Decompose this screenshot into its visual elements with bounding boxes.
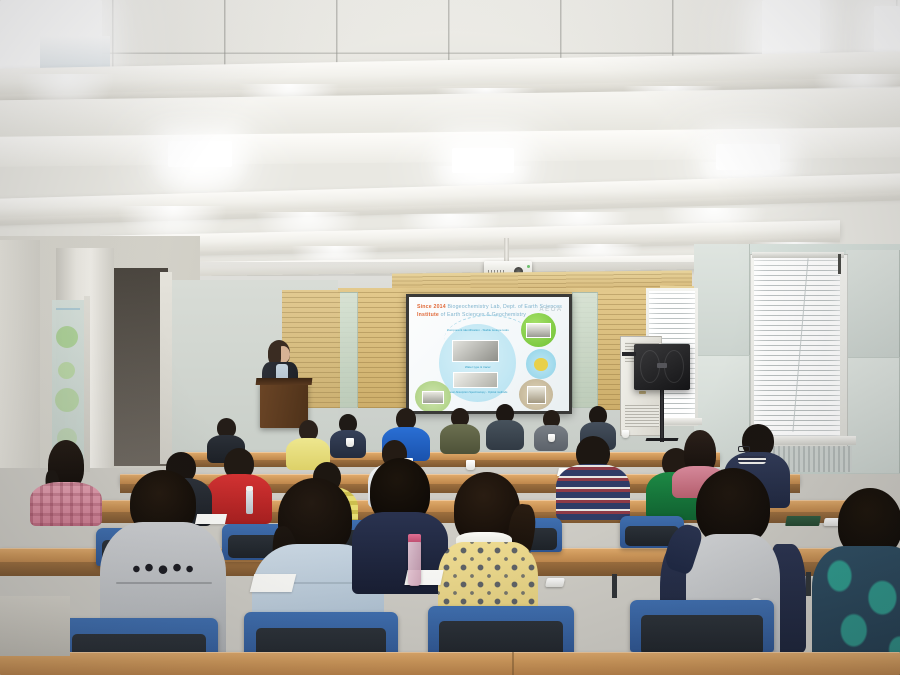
- attendee-olive-jacket: [440, 408, 480, 452]
- reflection-circle: [56, 326, 78, 348]
- slide-photo-instrument: [452, 340, 500, 362]
- desk-row-front: [0, 652, 900, 675]
- slide-photo-thumb: [526, 323, 551, 338]
- slide-photo-thumb3: [422, 391, 445, 404]
- attendee-camo-teal: [812, 488, 900, 675]
- reflection-circle: [55, 388, 79, 412]
- water-bottle-pink: [408, 540, 421, 586]
- slide-circle-blue-2: [526, 349, 556, 379]
- attendee-torso: [486, 420, 524, 450]
- podium-top-surface: [256, 378, 313, 385]
- glass-partition-right: [572, 292, 598, 408]
- pa-speaker: [634, 344, 690, 390]
- slide-circle-tan-3: [519, 379, 553, 410]
- blind-headrail: [752, 252, 844, 258]
- smartphone: [545, 578, 565, 587]
- slide-hub-caption-mid: Water type & tracer: [439, 365, 516, 369]
- projection-screen-frame: Since 2014 Biogeochemistry Lab, Dept. of…: [406, 294, 572, 414]
- reflection-circle: [58, 362, 75, 379]
- projector-pole-mount: [504, 238, 509, 262]
- attendee-dark-navy-mid: [330, 414, 366, 456]
- chair: [428, 606, 574, 658]
- coffee-mug: [548, 434, 555, 442]
- presentation-slide: Since 2014 Biogeochemistry Lab, Dept. of…: [409, 297, 569, 411]
- chair: [630, 600, 774, 652]
- desk-leg: [612, 574, 617, 598]
- ceiling-light-panel: [716, 144, 780, 170]
- ceiling-light-panel: [452, 148, 514, 173]
- slide-logo: AEOA: [540, 307, 563, 313]
- chair-cushion: [641, 615, 763, 655]
- slide-photo-sample: [453, 372, 498, 388]
- projector-indicator: [527, 265, 530, 268]
- handout-paper: [250, 574, 296, 592]
- blind-wand: [838, 254, 841, 274]
- ac-logo: [639, 391, 646, 394]
- desk-leg: [806, 572, 811, 596]
- speaker-stand: [660, 390, 664, 442]
- attendee-striped-navy-red: [556, 436, 630, 518]
- attendee-torso: [440, 424, 480, 454]
- slide-circle-green-4: [415, 381, 450, 411]
- slide-icon-yellow: [534, 358, 547, 371]
- attendee-torso-striped: [556, 464, 630, 520]
- slide-hub-center: Component identification - Stable isotop…: [439, 324, 516, 402]
- speaker-driver: [664, 350, 684, 383]
- slide-circle-green-1: [521, 313, 556, 347]
- doorway-opening: [106, 268, 168, 466]
- speaker-badge: [657, 363, 667, 368]
- slide-title-accent2: Institute: [417, 312, 439, 318]
- lecture-hall-photo: Since 2014 Biogeochemistry Lab, Dept. of…: [0, 0, 900, 675]
- attendee-torso-plaid: [30, 482, 102, 526]
- reflection-text: [56, 308, 80, 310]
- slide-photo-thumb2: [527, 386, 546, 403]
- coffee-mug: [466, 460, 475, 470]
- wall-panel: [846, 358, 900, 474]
- door-frame: [160, 272, 172, 464]
- speaker-bracket: [622, 352, 636, 356]
- wall-panel: [694, 244, 750, 356]
- hoodie-seam: [116, 582, 212, 584]
- slide-hub-caption-top: Component identification - Stable isotop…: [439, 328, 516, 332]
- window-reflection-glare: [40, 36, 110, 70]
- desk-seam: [512, 652, 514, 675]
- ceiling-light-panel: [762, 0, 820, 60]
- coffee-mug: [346, 438, 354, 447]
- column-left-edge: [0, 240, 40, 468]
- ac-grille-bottom: [625, 405, 659, 427]
- collar-stripe: [738, 456, 766, 464]
- floor: [0, 596, 70, 656]
- bottle-cap-pink: [408, 534, 421, 542]
- attendee-yellow-cardigan: [286, 420, 330, 466]
- window-blinds: [754, 258, 840, 436]
- slide-title-accent: Since 2014: [417, 304, 446, 310]
- ceiling-light-panel: [168, 141, 232, 167]
- attendee-dark-back-right: [486, 404, 524, 448]
- wall-panel: [846, 250, 900, 358]
- slide-hub-caption-bottom: Laser Absorption Spectroscopy - Optical …: [439, 391, 516, 394]
- attendee-pink-plaid: [30, 440, 102, 518]
- hoodie-ornate-graphic: [128, 562, 198, 576]
